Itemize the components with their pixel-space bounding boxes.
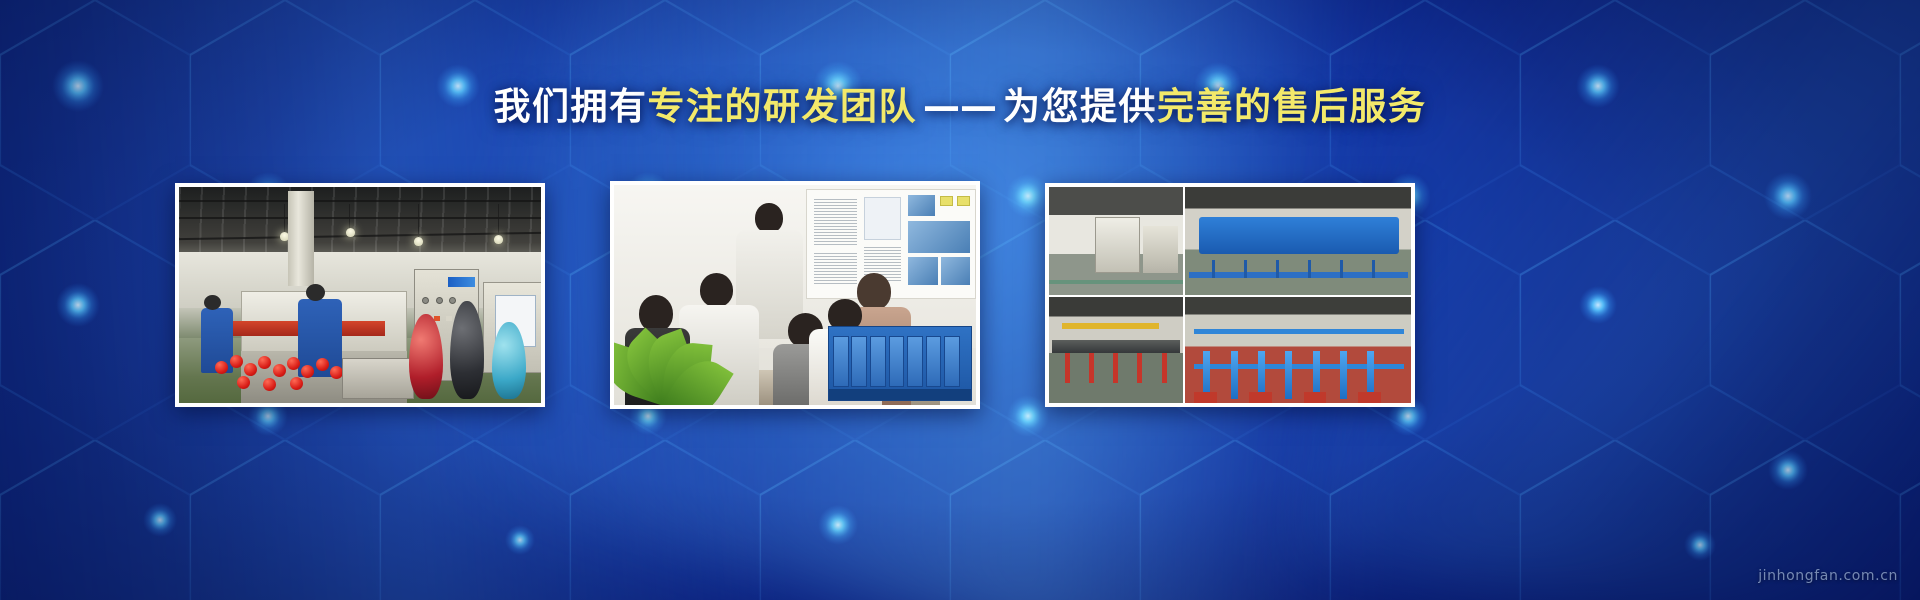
- banner-headline: 我们拥有专注的研发团队——为您提供完善的售后服务: [0, 84, 1920, 130]
- site-watermark: jinhongfan.com.cn: [1758, 568, 1898, 584]
- headline-segment-4: 完善的售后服务: [1157, 85, 1427, 128]
- headline-segment-1: 我们拥有: [494, 85, 648, 128]
- headline-dash: ——: [917, 85, 1003, 128]
- photo-gallery-row: [0, 183, 1920, 407]
- photo-team-meeting[interactable]: [610, 181, 980, 409]
- hero-banner: 我们拥有专注的研发团队——为您提供完善的售后服务: [0, 0, 1920, 600]
- photo-plant-collage[interactable]: [1045, 183, 1415, 407]
- photo-production-line[interactable]: [175, 183, 545, 407]
- headline-segment-2: 专注的研发团队: [648, 85, 918, 128]
- headline-segment-3: 为您提供: [1003, 85, 1157, 128]
